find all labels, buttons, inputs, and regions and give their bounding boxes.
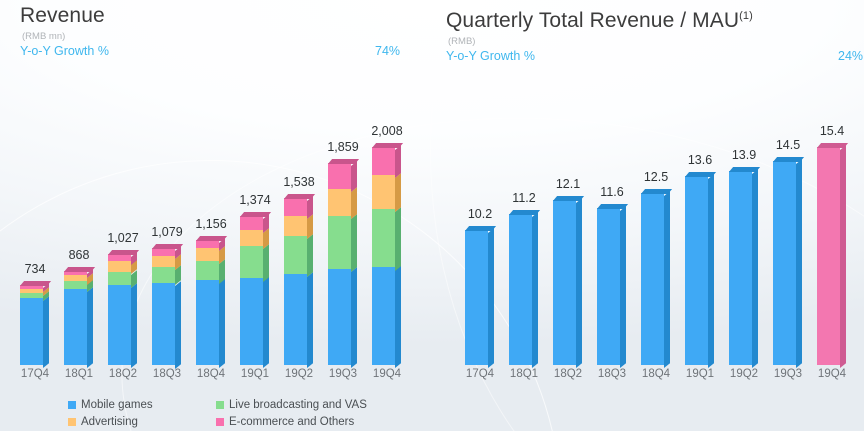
bar-segment-front — [240, 230, 263, 246]
bar-segment-front — [64, 281, 87, 289]
bar-segment-front — [20, 293, 43, 298]
bar-segment-front — [152, 248, 175, 256]
bar-segment — [284, 274, 307, 365]
revenue-per-mau-bar[interactable] — [465, 230, 494, 365]
revenue-per-mau-growth-row: Y-o-Y Growth % 24% — [446, 49, 856, 65]
bar-segment-top — [284, 194, 315, 199]
x-axis-label: 19Q2 — [277, 368, 321, 380]
bar-segment-front — [20, 298, 43, 365]
bar-segment-side — [488, 228, 494, 368]
revenue-per-mau-bar[interactable] — [773, 161, 802, 365]
revenue-unit: (RMB mn) — [22, 30, 432, 43]
bar-segment — [729, 171, 752, 365]
bar-segment — [817, 147, 840, 365]
bar-segment-front — [284, 216, 307, 236]
revenue-plot-area: 7348681,0271,0791,1561,3741,5381,8592,00… — [0, 100, 440, 365]
bar-segment — [240, 278, 263, 365]
bar-segment — [108, 285, 131, 365]
bar-segment-side — [87, 287, 93, 368]
bar-segment-top — [465, 226, 496, 231]
bar-segment — [328, 163, 351, 189]
bar-value-label: 868 — [53, 248, 105, 262]
bar-value-label: 11.6 — [586, 185, 638, 199]
bar-segment — [372, 267, 395, 365]
bar-value-label: 15.4 — [806, 124, 858, 138]
bar-value-label: 1,859 — [317, 140, 369, 154]
bar-segment — [284, 236, 307, 274]
bar-segment — [773, 161, 796, 365]
bar-value-label: 1,156 — [185, 217, 237, 231]
x-axis-label: 19Q3 — [766, 368, 810, 380]
bar-segment-front — [773, 161, 796, 365]
bar-segment-side — [796, 160, 802, 368]
revenue-per-mau-growth-value: 24% — [838, 49, 863, 63]
bar-segment-top — [729, 167, 760, 172]
bar-segment-side — [351, 215, 357, 273]
revenue-bar[interactable] — [284, 198, 313, 365]
bar-segment-top — [20, 281, 51, 286]
bar-segment — [64, 271, 87, 275]
bar-segment-side — [307, 234, 313, 277]
legend-label: E-commerce and Others — [229, 416, 354, 428]
bar-segment-front — [152, 283, 175, 366]
revenue-bar[interactable] — [372, 147, 401, 365]
x-axis-label: 19Q1 — [233, 368, 277, 380]
x-axis-label: 19Q4 — [365, 368, 409, 380]
bar-segment-front — [729, 171, 752, 365]
bar-segment-front — [196, 248, 219, 261]
bar-segment — [465, 230, 488, 365]
bar-segment-side — [752, 169, 758, 368]
bar-segment-front — [817, 147, 840, 365]
bar-segment — [20, 285, 43, 289]
bar-segment — [685, 176, 708, 365]
bar-segment — [284, 216, 307, 236]
bar-segment-side — [175, 281, 181, 368]
bar-segment-top — [685, 172, 716, 177]
bar-segment — [372, 175, 395, 209]
bar-segment — [597, 208, 620, 365]
revenue-panel: Revenue (RMB mn) Y-o-Y Growth % 74% 7348… — [0, 0, 440, 431]
x-axis-label: 18Q4 — [189, 368, 233, 380]
bar-segment — [196, 248, 219, 261]
bar-segment — [509, 214, 532, 365]
bar-segment-side — [620, 206, 626, 368]
bar-segment-front — [641, 193, 664, 365]
slide-canvas: Revenue (RMB mn) Y-o-Y Growth % 74% 7348… — [0, 0, 864, 431]
x-axis-label: 18Q1 — [57, 368, 101, 380]
bar-segment-front — [152, 267, 175, 282]
revenue-per-mau-bar[interactable] — [685, 176, 714, 365]
bar-segment-front — [240, 278, 263, 365]
x-axis-label: 18Q3 — [145, 368, 189, 380]
bar-segment-top — [773, 157, 804, 162]
bar-segment — [152, 256, 175, 267]
revenue-per-mau-title: Quarterly Total Revenue / MAU(1) — [446, 4, 856, 33]
x-axis-label: 18Q2 — [546, 368, 590, 380]
bar-segment-side — [351, 268, 357, 368]
legend-label: Live broadcasting and VAS — [229, 399, 367, 411]
bar-segment — [328, 216, 351, 269]
bar-segment — [64, 289, 87, 365]
revenue-bar[interactable] — [196, 240, 225, 366]
legend-item[interactable]: Advertising — [68, 416, 138, 428]
bar-segment — [328, 269, 351, 365]
bar-segment-top — [597, 204, 628, 209]
revenue-header: Revenue (RMB mn) Y-o-Y Growth % 74% — [20, 4, 432, 60]
bar-value-label: 2,008 — [361, 124, 413, 138]
bar-segment — [64, 275, 87, 282]
revenue-per-mau-panel: Quarterly Total Revenue / MAU(1) (RMB) Y… — [440, 0, 864, 431]
bar-segment — [240, 246, 263, 279]
bar-segment-front — [372, 267, 395, 365]
legend-swatch-icon — [216, 401, 224, 409]
bar-segment-front — [108, 272, 131, 285]
bar-segment — [152, 248, 175, 256]
legend-swatch-icon — [68, 418, 76, 426]
x-axis-label: 17Q4 — [458, 368, 502, 380]
bar-segment — [240, 230, 263, 246]
bar-value-label: 1,538 — [273, 175, 325, 189]
x-axis-label: 19Q2 — [722, 368, 766, 380]
revenue-per-mau-growth-label: Y-o-Y Growth % — [446, 49, 535, 63]
bar-segment — [284, 198, 307, 216]
bar-segment-front — [20, 289, 43, 293]
chart-legend: Mobile gamesLive broadcasting and VASAdv… — [68, 399, 468, 431]
bar-segment-front — [64, 289, 87, 365]
bar-segment-top — [64, 267, 95, 272]
bar-segment-side — [395, 145, 401, 178]
bar-segment-side — [840, 145, 846, 368]
bar-segment-side — [576, 198, 582, 368]
bar-segment-side — [131, 283, 137, 368]
bar-value-label: 10.2 — [454, 207, 506, 221]
legend-swatch-icon — [216, 418, 224, 426]
revenue-per-mau-unit: (RMB) — [448, 35, 856, 48]
bar-segment-top — [817, 143, 848, 148]
bar-segment-side — [43, 296, 49, 368]
bar-segment-front — [152, 256, 175, 267]
bar-segment-side — [351, 161, 357, 192]
x-axis-label: 18Q1 — [502, 368, 546, 380]
bar-segment-front — [685, 176, 708, 365]
x-axis-label: 18Q4 — [634, 368, 678, 380]
bar-segment-side — [395, 207, 401, 270]
bar-segment — [196, 280, 219, 365]
bar-segment-front — [372, 147, 395, 175]
revenue-per-mau-bar-highlighted[interactable] — [817, 147, 846, 365]
bar-segment — [64, 281, 87, 289]
x-axis-label: 18Q3 — [590, 368, 634, 380]
bar-segment-front — [108, 261, 131, 271]
bar-segment-front — [328, 269, 351, 365]
bar-segment-front — [328, 189, 351, 216]
bar-segment — [240, 216, 263, 230]
bar-segment-top — [328, 159, 359, 164]
revenue-bar[interactable] — [328, 163, 357, 365]
revenue-per-mau-bar[interactable] — [597, 208, 626, 365]
bar-segment-front — [328, 163, 351, 189]
bar-segment-front — [240, 246, 263, 279]
bar-segment-front — [372, 175, 395, 209]
x-axis-label: 19Q4 — [810, 368, 854, 380]
bar-segment-front — [328, 216, 351, 269]
bar-segment — [196, 261, 219, 281]
bar-value-label: 734 — [9, 262, 61, 276]
bar-segment-top — [372, 143, 403, 148]
bar-segment-front — [372, 209, 395, 268]
revenue-bar[interactable] — [240, 216, 269, 365]
bar-segment-top — [553, 196, 584, 201]
legend-label: Mobile games — [81, 399, 153, 411]
bar-segment-side — [263, 244, 269, 281]
x-axis-label: 18Q2 — [101, 368, 145, 380]
bar-segment-side — [395, 173, 401, 211]
bar-segment — [553, 200, 576, 365]
bar-segment — [20, 293, 43, 298]
bar-segment — [20, 289, 43, 293]
revenue-bar[interactable] — [64, 271, 93, 365]
bar-segment — [152, 283, 175, 366]
revenue-growth-row: Y-o-Y Growth % 74% — [20, 44, 432, 60]
x-axis-label: 17Q4 — [13, 368, 57, 380]
revenue-growth-label: Y-o-Y Growth % — [20, 44, 109, 58]
x-axis-label: 19Q1 — [678, 368, 722, 380]
bar-segment-side — [532, 212, 538, 368]
bar-segment-front — [196, 261, 219, 281]
bar-segment — [196, 240, 219, 248]
bar-segment — [372, 147, 395, 175]
bar-segment-side — [219, 279, 225, 368]
bar-segment-top — [152, 244, 183, 249]
bar-segment-side — [263, 276, 269, 368]
bar-segment-front — [553, 200, 576, 365]
revenue-per-mau-bar[interactable] — [641, 193, 670, 365]
revenue-bar[interactable] — [108, 254, 137, 365]
bar-segment-front — [108, 285, 131, 365]
x-axis-label: 19Q3 — [321, 368, 365, 380]
revenue-bar[interactable] — [152, 248, 181, 365]
bar-segment-front — [284, 236, 307, 274]
legend-swatch-icon — [68, 401, 76, 409]
revenue-per-mau-bar[interactable] — [509, 214, 538, 365]
revenue-growth-value: 74% — [375, 44, 400, 58]
bar-segment — [108, 261, 131, 271]
bar-segment-front — [597, 208, 620, 365]
footnote-superscript: (1) — [739, 10, 753, 22]
bar-segment-side — [708, 174, 714, 368]
revenue-per-mau-x-axis: 17Q418Q118Q218Q318Q419Q119Q219Q319Q4 — [440, 368, 864, 386]
bar-value-label: 12.5 — [630, 170, 682, 184]
revenue-per-mau-header: Quarterly Total Revenue / MAU(1) (RMB) Y… — [446, 4, 856, 65]
bar-segment-front — [509, 214, 532, 365]
bar-segment-side — [395, 266, 401, 368]
bar-segment-front — [465, 230, 488, 365]
bar-segment-front — [284, 198, 307, 216]
revenue-x-axis: 17Q418Q118Q218Q318Q419Q119Q219Q319Q4 — [0, 368, 440, 386]
bar-value-label: 1,374 — [229, 193, 281, 207]
bar-value-label: 14.5 — [762, 138, 814, 152]
bar-segment-top — [641, 189, 672, 194]
bar-segment — [152, 267, 175, 282]
bar-segment — [328, 189, 351, 216]
bar-segment-front — [196, 280, 219, 365]
bar-segment — [108, 254, 131, 262]
revenue-title: Revenue — [20, 4, 432, 28]
bar-segment — [20, 298, 43, 365]
bar-segment-top — [240, 212, 271, 217]
bar-segment-front — [240, 216, 263, 230]
revenue-per-mau-title-text: Quarterly Total Revenue / MAU — [446, 9, 739, 32]
bar-segment — [108, 272, 131, 285]
bar-segment-side — [307, 272, 313, 368]
revenue-per-mau-plot-area: 10.211.212.111.612.513.613.914.515.4 — [440, 100, 864, 365]
bar-segment-top — [509, 210, 540, 215]
bar-segment — [372, 209, 395, 268]
bar-segment-side — [664, 192, 670, 368]
bar-segment-front — [64, 275, 87, 282]
legend-label: Advertising — [81, 416, 138, 428]
bar-value-label: 11.2 — [498, 191, 550, 205]
legend-item[interactable]: Live broadcasting and VAS — [216, 399, 367, 411]
legend-item[interactable]: Mobile games — [68, 399, 153, 411]
legend-item[interactable]: E-commerce and Others — [216, 416, 354, 428]
bar-segment-side — [351, 187, 357, 219]
bar-segment — [641, 193, 664, 365]
bar-segment-top — [108, 250, 139, 255]
revenue-bar[interactable] — [20, 285, 49, 365]
revenue-per-mau-bar[interactable] — [553, 200, 582, 365]
revenue-per-mau-bar[interactable] — [729, 171, 758, 365]
bar-segment-front — [284, 274, 307, 365]
bar-segment-top — [196, 236, 227, 241]
